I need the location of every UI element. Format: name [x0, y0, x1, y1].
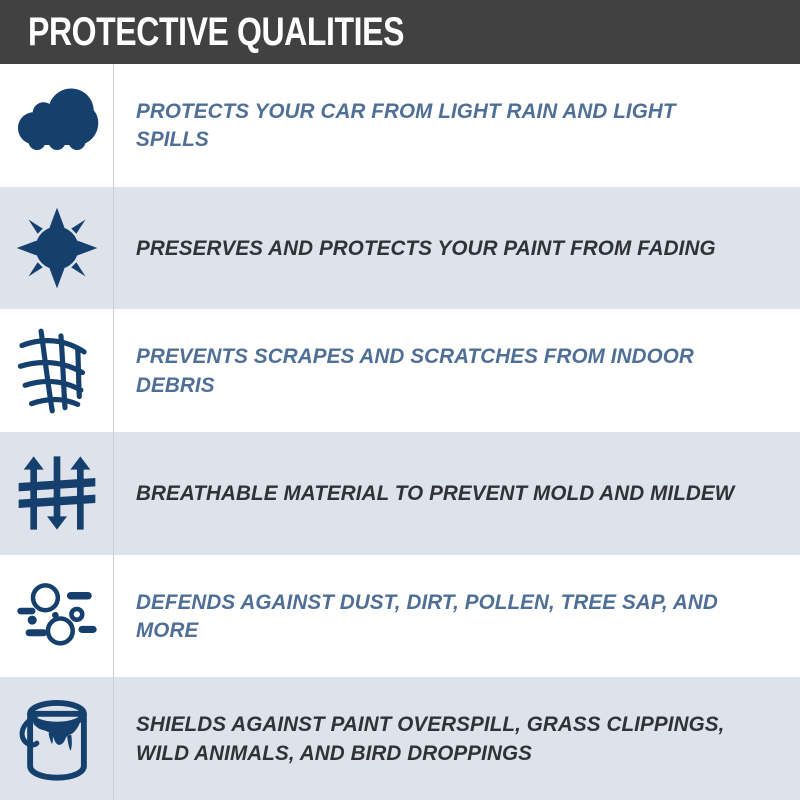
text-cell: BREATHABLE MATERIAL TO PREVENT MOLD AND …: [114, 432, 800, 555]
mesh-net-icon: [17, 328, 97, 414]
list-item-label: DEFENDS AGAINST DUST, DIRT, POLLEN, TREE…: [136, 588, 750, 645]
icon-cell: [0, 309, 114, 432]
icon-cell: [0, 555, 114, 678]
list-item-label: PRESERVES AND PROTECTS YOUR PAINT FROM F…: [136, 234, 716, 262]
page-title: PROTECTIVE QUALITIES: [28, 12, 404, 52]
icon-cell: [0, 64, 114, 187]
sun-icon: [15, 206, 99, 290]
protective-qualities-infographic: PROTECTIVE QUALITIES PROTECTS YOUR CAR F…: [0, 0, 800, 800]
list-item-label: BREATHABLE MATERIAL TO PREVENT MOLD AND …: [136, 479, 734, 507]
breathable-airflow-icon: [15, 453, 99, 533]
rain-cloud-icon: [15, 85, 99, 165]
list-item: PRESERVES AND PROTECTS YOUR PAINT FROM F…: [0, 187, 800, 310]
icon-cell: [0, 432, 114, 555]
header-bar: PROTECTIVE QUALITIES: [0, 0, 800, 64]
text-cell: DEFENDS AGAINST DUST, DIRT, POLLEN, TREE…: [114, 555, 800, 678]
paint-can-icon: [15, 695, 99, 783]
list-item-label: PREVENTS SCRAPES AND SCRATCHES FROM INDO…: [136, 342, 750, 399]
list-item-label: PROTECTS YOUR CAR FROM LIGHT RAIN AND LI…: [136, 97, 750, 154]
list-item: PROTECTS YOUR CAR FROM LIGHT RAIN AND LI…: [0, 64, 800, 187]
list-item-label: SHIELDS AGAINST PAINT OVERSPILL, GRASS C…: [136, 710, 750, 767]
text-cell: PREVENTS SCRAPES AND SCRATCHES FROM INDO…: [114, 309, 800, 432]
list-item: SHIELDS AGAINST PAINT OVERSPILL, GRASS C…: [0, 677, 800, 800]
dust-particles-icon: [14, 576, 100, 656]
list-item: DEFENDS AGAINST DUST, DIRT, POLLEN, TREE…: [0, 555, 800, 678]
feature-list: PROTECTS YOUR CAR FROM LIGHT RAIN AND LI…: [0, 64, 800, 800]
list-item: BREATHABLE MATERIAL TO PREVENT MOLD AND …: [0, 432, 800, 555]
list-item: PREVENTS SCRAPES AND SCRATCHES FROM INDO…: [0, 309, 800, 432]
icon-cell: [0, 187, 114, 310]
text-cell: SHIELDS AGAINST PAINT OVERSPILL, GRASS C…: [114, 677, 800, 800]
text-cell: PRESERVES AND PROTECTS YOUR PAINT FROM F…: [114, 187, 800, 310]
icon-cell: [0, 677, 114, 800]
text-cell: PROTECTS YOUR CAR FROM LIGHT RAIN AND LI…: [114, 64, 800, 187]
